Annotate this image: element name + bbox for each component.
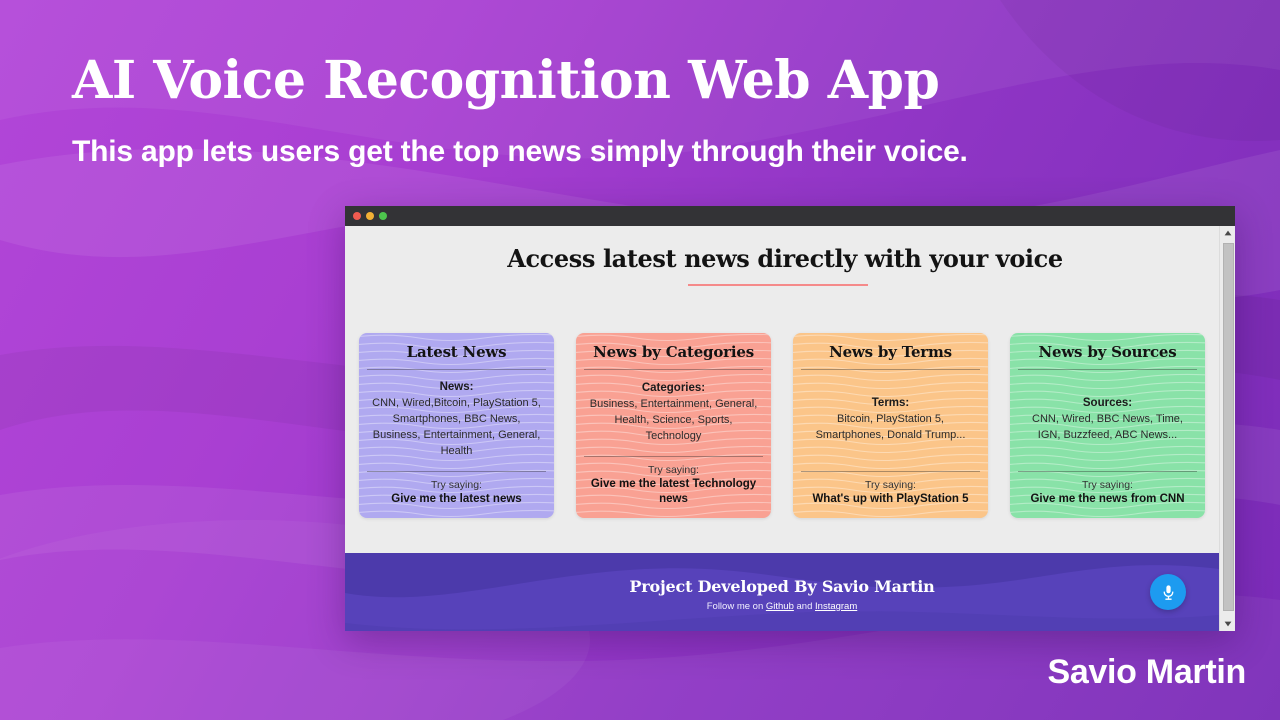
app-heading-wrap: Access latest news directly with your vo…	[345, 226, 1219, 291]
feature-card[interactable]: Latest News News: CNN, Wired,Bitcoin, Pl…	[359, 333, 554, 518]
card-body: Terms: Bitcoin, PlayStation 5, Smartphon…	[801, 370, 980, 471]
card-footer: Try saying: Give me the latest Technolog…	[584, 457, 763, 506]
microphone-icon	[1160, 584, 1177, 601]
instagram-link[interactable]: Instagram	[815, 601, 857, 612]
card-body-label: Categories:	[586, 382, 761, 394]
try-saying-phrase: What's up with PlayStation 5	[801, 492, 980, 506]
close-window-dot[interactable]	[353, 212, 361, 220]
scroll-up-arrow-icon	[1224, 230, 1232, 236]
try-saying-label: Try saying:	[367, 479, 546, 491]
app-heading: Access latest news directly with your vo…	[501, 244, 1062, 273]
card-title: News by Terms	[801, 343, 980, 369]
try-saying-label: Try saying:	[801, 479, 980, 491]
card-body: Sources: CNN, Wired, BBC News, Time, IGN…	[1018, 370, 1197, 471]
footer-inner: Project Developed By Savio Martin Follow…	[345, 553, 1219, 631]
scroll-down-arrow-icon	[1224, 621, 1232, 627]
page-title: AI Voice Recognition Web App	[72, 52, 1022, 110]
follow-prefix-text: Follow me on	[707, 601, 766, 612]
card-body-text: Business, Entertainment, General, Health…	[586, 397, 761, 445]
follow-middle-text: and	[794, 601, 815, 612]
card-title: News by Sources	[1018, 343, 1197, 369]
card-body-text: CNN, Wired, BBC News, Time, IGN, Buzzfee…	[1020, 412, 1195, 444]
maximize-window-dot[interactable]	[379, 212, 387, 220]
feature-card[interactable]: News by Sources Sources: CNN, Wired, BBC…	[1010, 333, 1205, 518]
footer-credit: Project Developed By Savio Martin	[629, 577, 934, 596]
browser-titlebar	[345, 206, 1235, 226]
github-link[interactable]: Github	[766, 601, 794, 612]
heading-underline-holder	[345, 273, 1219, 291]
card-body-label: Terms:	[803, 397, 978, 409]
scrollbar-thumb[interactable]	[1223, 243, 1234, 611]
try-saying-label: Try saying:	[1018, 479, 1197, 491]
card-body-text: CNN, Wired,Bitcoin, PlayStation 5, Smart…	[369, 396, 544, 460]
scroll-up-button[interactable]	[1220, 226, 1235, 240]
app-content-area: Access latest news directly with your vo…	[345, 226, 1219, 631]
try-saying-label: Try saying:	[584, 464, 763, 476]
card-title: Latest News	[367, 343, 546, 369]
card-body-label: Sources:	[1020, 397, 1195, 409]
footer-follow-line: Follow me on Github and Instagram	[707, 601, 858, 612]
page-subtitle: This app lets users get the top news sim…	[72, 132, 1002, 172]
card-footer: Try saying: Give me the latest news	[367, 472, 546, 506]
try-saying-phrase: Give me the news from CNN	[1018, 492, 1197, 506]
slide-canvas: AI Voice Recognition Web App This app le…	[0, 0, 1280, 720]
heading-underline-rule	[688, 284, 868, 286]
card-body: Categories: Business, Entertainment, Gen…	[584, 370, 763, 456]
try-saying-phrase: Give me the latest news	[367, 492, 546, 506]
card-body: News: CNN, Wired,Bitcoin, PlayStation 5,…	[367, 370, 546, 471]
try-saying-phrase: Give me the latest Technology news	[584, 477, 763, 506]
card-title: News by Categories	[584, 343, 763, 369]
feature-card[interactable]: News by Categories Categories: Business,…	[576, 333, 771, 518]
scrollbar-track[interactable]	[1222, 240, 1234, 617]
app-footer: Project Developed By Savio Martin Follow…	[345, 553, 1219, 631]
card-body-label: News:	[369, 381, 544, 393]
feature-card[interactable]: News by Terms Terms: Bitcoin, PlayStatio…	[793, 333, 988, 518]
browser-window-mockup: Access latest news directly with your vo…	[345, 206, 1235, 631]
microphone-button[interactable]	[1150, 574, 1186, 610]
browser-viewport: Access latest news directly with your vo…	[345, 226, 1235, 631]
card-footer: Try saying: Give me the news from CNN	[1018, 472, 1197, 506]
author-signature: Savio Martin	[1047, 653, 1246, 692]
minimize-window-dot[interactable]	[366, 212, 374, 220]
card-body-text: Bitcoin, PlayStation 5, Smartphones, Don…	[803, 412, 978, 444]
vertical-scrollbar[interactable]	[1219, 226, 1235, 631]
feature-cards-row: Latest News News: CNN, Wired,Bitcoin, Pl…	[345, 333, 1219, 518]
card-footer: Try saying: What's up with PlayStation 5	[801, 472, 980, 506]
scroll-down-button[interactable]	[1220, 617, 1235, 631]
headline-block: AI Voice Recognition Web App This app le…	[72, 52, 1022, 172]
